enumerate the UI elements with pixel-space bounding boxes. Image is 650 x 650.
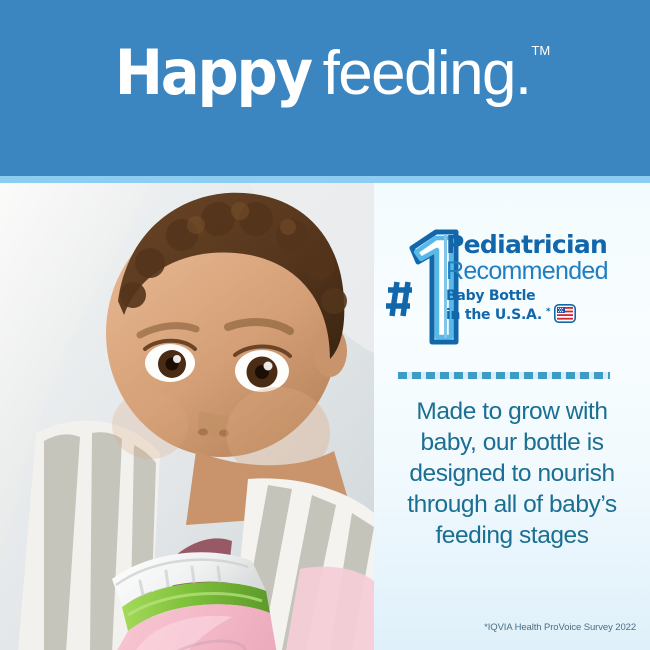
footnote-source: *IQVIA Health ProVoice Survey 2022 [484,622,636,633]
badge-usa-row: in the U.S.A. * [446,304,650,323]
badge-line-in-the-usa: in the U.S.A. [446,307,542,323]
brand-word-happy: Happy [114,42,310,104]
brand-word-feeding: feeding. [323,43,531,105]
badge-usa-footnote-marker: * [546,304,550,320]
badge-line-baby-bottle: Baby Bottle [446,288,650,304]
baby-with-bottle-illustration [0,183,374,650]
header-accent-band [0,176,650,183]
badge-line-recommended: Recommended [446,258,650,285]
dashed-divider [398,372,610,379]
hero-photo [0,183,374,650]
body-headline: Made to grow with baby, our bottle is de… [378,396,646,551]
header-banner: Happyfeeding.TM [0,0,650,176]
right-info-panel: Pediatrician Recommended Baby Bottle in … [374,183,650,650]
number-one-badge: Pediatrician Recommended Baby Bottle in … [374,228,650,348]
usa-flag-icon [554,304,576,323]
badge-line-pediatrician: Pediatrician [446,232,650,258]
badge-text-block: Pediatrician Recommended Baby Bottle in … [446,232,650,323]
brand-lockup: Happyfeeding.TM [0,42,650,105]
advertisement-canvas: Happyfeeding.TM [0,0,650,650]
trademark-superscript: TM [531,44,550,57]
